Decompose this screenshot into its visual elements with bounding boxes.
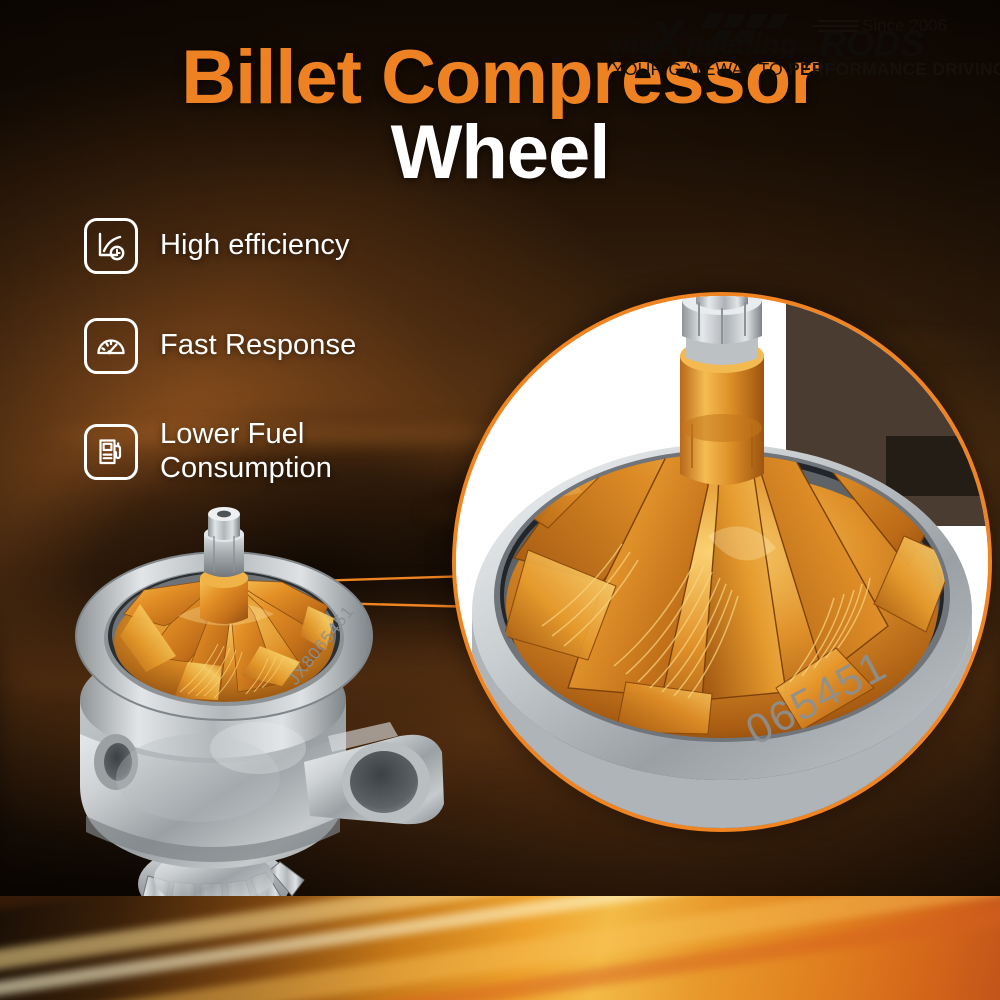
feature-item-fast-response: Fast Response [84,318,356,374]
brand-x-letter: X [647,12,686,58]
brand-logo[interactable]: Since 2006 ma X peeding RODS YOUR GATEWA… [612,12,962,80]
feature-label: Fast Response [160,329,356,363]
feature-item-lower-fuel-consumption: Lower Fuel Consumption [84,418,356,485]
feature-list: High efficiency Fast Response [84,218,356,485]
product-image-turbocharger-cartridge: JX8065451 [28,486,468,936]
fuel-pump-icon [84,424,138,480]
footer-brand-band [0,896,1000,1000]
brand-mid-label: peeding [685,29,797,58]
magnified-hub-and-nut [680,296,764,485]
brand-logo-wordmark: Since 2006 ma X peeding RODS [612,12,962,58]
brand-tagline-bold: PERFORMANCE DRIVING [788,59,1000,79]
magnified-detail-circle: 065451 [452,292,992,832]
headline-line-2: Wheel [0,117,1000,190]
brand-prefix-label: ma [612,28,655,58]
feature-label: High efficiency [160,229,350,263]
compressor-hub-and-nut [200,507,248,624]
feature-label: Lower Fuel Consumption [160,418,332,485]
brand-suffix-label: RODS [820,23,924,58]
brand-tagline: YOUR GATEWAY TO PERFORMANCE DRIVING [612,59,962,80]
brand-tagline-light: YOUR GATEWAY TO [612,59,783,79]
feature-item-high-efficiency: High efficiency [84,218,356,274]
banner-canvas: Billet Compressor Wheel High efficiency [0,0,1000,1000]
speedometer-gauge-icon [84,318,138,374]
efficiency-chart-clock-icon [84,218,138,274]
